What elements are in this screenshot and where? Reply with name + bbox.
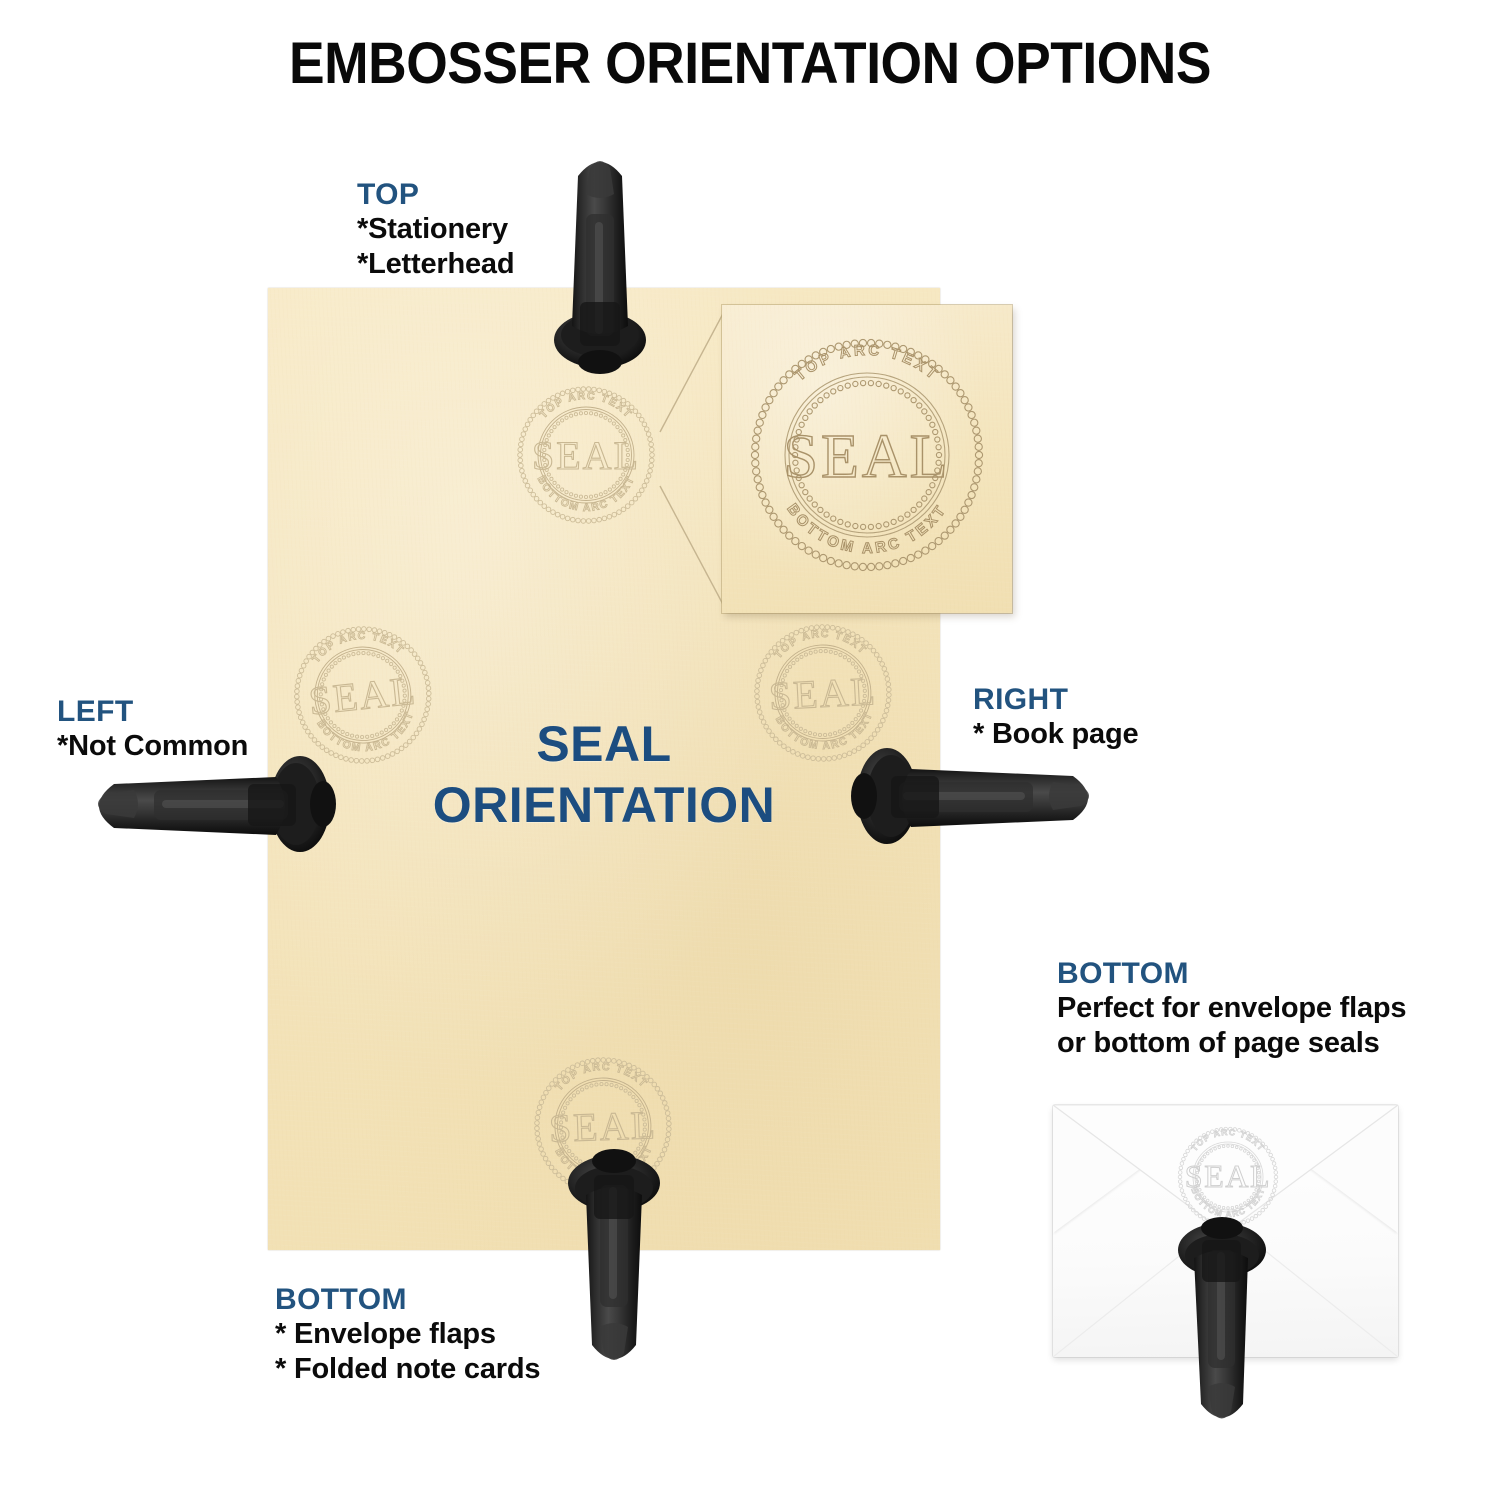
svg-text:SEAL: SEAL (548, 1102, 658, 1151)
callout-left-heading: LEFT (57, 695, 248, 729)
svg-text:SEAL: SEAL (1185, 1158, 1271, 1194)
embosser-tool-icon-right (845, 744, 1099, 848)
mag-seal-top-arc: TOP ARC TEXT (792, 342, 943, 385)
callout-top: TOP *Stationery *Letterhead (357, 178, 514, 282)
embossed-seal-icon-magnified: TOP ARC TEXT BOTTOM ARC TEXT SEAL (747, 333, 987, 585)
embosser-tool-icon-left (88, 752, 342, 856)
svg-text:SEAL: SEAL (307, 667, 419, 723)
diagram-canvas: EMBOSSER ORIENTATION OPTIONS (0, 0, 1500, 1500)
callout-left-line-1: *Not Common (57, 729, 248, 764)
callout-right: RIGHT * Book page (973, 683, 1138, 752)
callout-bottom-envelope-line-1: Perfect for envelope flaps (1057, 991, 1406, 1026)
embosser-tool-icon-envelope (1170, 1210, 1274, 1428)
callout-top-heading: TOP (357, 178, 514, 212)
callout-bottom-paper: BOTTOM * Envelope flaps * Folded note ca… (275, 1283, 540, 1387)
seal-top-arc-text: TOP ARC TEXT (538, 390, 635, 421)
callout-right-line-1: * Book page (973, 717, 1138, 752)
embossed-seal-icon-top: TOP ARC TEXT BOTTOM ARC TEXT SEAL (514, 381, 658, 533)
callout-top-line-2: *Letterhead (357, 247, 514, 282)
callout-bottom-envelope-heading: BOTTOM (1057, 957, 1406, 991)
callout-bottom-envelope-line-2: or bottom of page seals (1057, 1026, 1406, 1061)
magnified-seal-detail: TOP ARC TEXT BOTTOM ARC TEXT SEAL (722, 305, 1012, 613)
mag-seal-center-word: SEAL (784, 423, 951, 491)
callout-left: LEFT *Not Common (57, 695, 248, 764)
callout-bottom-paper-heading: BOTTOM (275, 1283, 540, 1317)
embosser-tool-icon-bottom (560, 1145, 668, 1369)
page-title: EMBOSSER ORIENTATION OPTIONS (60, 30, 1440, 97)
callout-bottom-paper-line-2: * Folded note cards (275, 1352, 540, 1387)
callout-top-line-1: *Stationery (357, 212, 514, 247)
paper-center-line-2: ORIENTATION (268, 775, 940, 836)
callout-right-heading: RIGHT (973, 683, 1138, 717)
svg-text:TOP ARC TEXT: TOP ARC TEXT (1189, 1127, 1267, 1153)
svg-text:TOP ARC TEXT: TOP ARC TEXT (552, 1059, 650, 1093)
mag-seal-bottom-arc: BOTTOM ARC TEXT (783, 501, 950, 557)
embosser-tool-icon-top (546, 152, 654, 376)
svg-text:TOP ARC TEXT: TOP ARC TEXT (771, 625, 869, 661)
callout-bottom-envelope: BOTTOM Perfect for envelope flaps or bot… (1057, 957, 1406, 1061)
callout-bottom-paper-line-1: * Envelope flaps (275, 1317, 540, 1352)
seal-center-word: SEAL (532, 433, 640, 478)
svg-text:SEAL: SEAL (768, 668, 878, 719)
